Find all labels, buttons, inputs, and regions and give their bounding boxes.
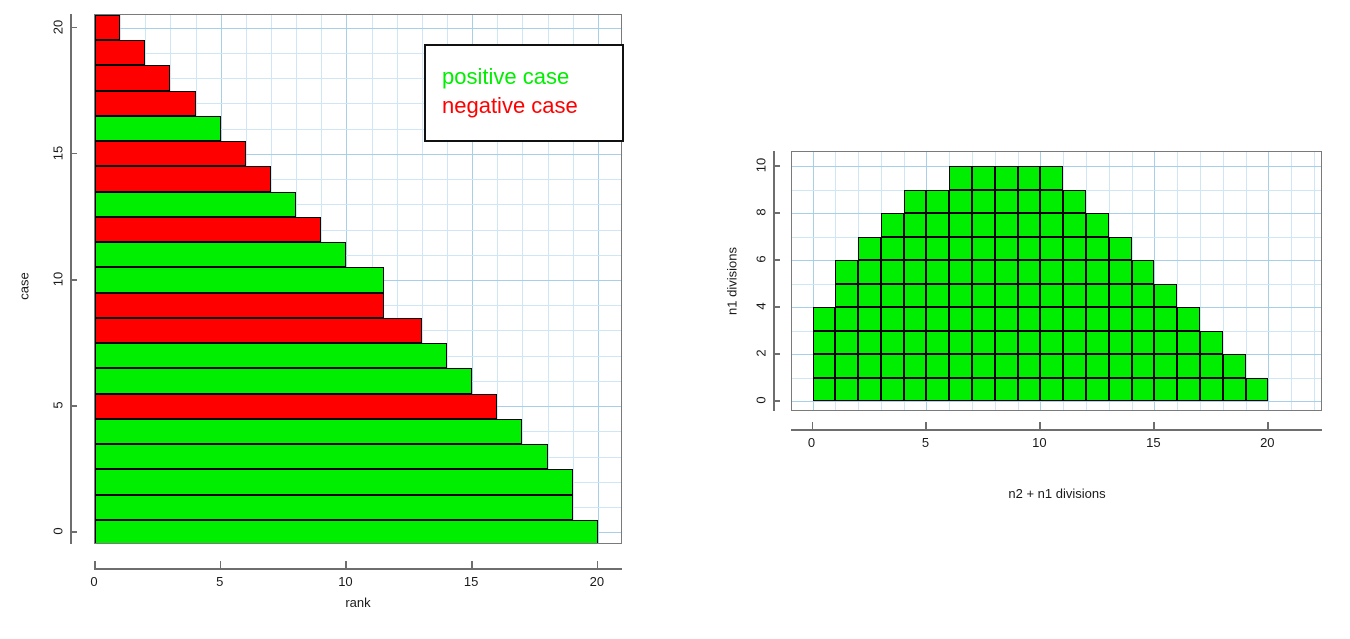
y-tick-label: 0 [754,397,769,404]
grid-line-horizontal [95,28,621,29]
bar-case-2 [95,469,573,494]
staircase-row-0 [813,378,1269,402]
staircase-row-8 [904,190,1086,214]
staircase-row-3 [813,307,1200,331]
staircase-row-5 [835,260,1154,284]
staircase-row-4 [835,284,1177,308]
y-tick [70,279,77,281]
bar-case-5 [95,394,497,419]
y-tick-label: 10 [754,158,769,172]
y-tick [773,212,780,214]
x-tick [471,561,473,568]
x-tick [597,561,599,568]
y-tick [773,353,780,355]
y-tick [773,400,780,402]
legend-box: positive case negative case [424,44,624,142]
bar-case-8 [95,318,422,343]
x-tick [345,561,347,568]
y-tick-label: 15 [51,146,66,160]
y-tick [70,405,77,407]
bar-case-14 [95,166,271,191]
bar-case-16 [95,116,221,141]
x-tick-label: 15 [1146,435,1160,450]
bar-case-6 [95,368,472,393]
bar-case-11 [95,242,346,267]
y-tick [70,153,77,155]
bar-case-10 [95,267,384,292]
x-tick [220,561,222,568]
y-tick [70,27,77,29]
legend-positive: positive case [442,63,606,92]
bar-case-13 [95,192,296,217]
bar-case-9 [95,293,384,318]
bar-case-3 [95,444,548,469]
y-tick-label: 5 [51,402,66,409]
x-tick-label: 0 [90,574,97,589]
legend-negative: negative case [442,92,606,121]
x-tick-label: 20 [590,574,604,589]
right-plot-area [791,151,1322,411]
staircase-row-2 [813,331,1223,355]
left-x-axis-title: rank [345,595,370,610]
y-tick-label: 0 [51,528,66,535]
bar-case-4 [95,419,522,444]
staircase-row-1 [813,354,1246,378]
left-y-axis-title: case [17,272,32,299]
grid-line-vertical [1268,152,1269,410]
staircase-row-7 [881,213,1109,237]
y-tick [773,165,780,167]
right-y-axis-line [773,151,775,411]
staircase-row-9 [949,166,1063,190]
y-tick-label: 20 [51,19,66,33]
bar-case-0 [95,520,598,544]
x-tick-label: 0 [808,435,815,450]
y-tick [773,259,780,261]
y-tick-label: 10 [51,272,66,286]
right-x-axis-title: n2 + n1 divisions [1008,486,1105,501]
left-chart-panel: positive case negative case rank case 05… [0,0,660,639]
y-tick-label: 2 [754,350,769,357]
y-tick [773,306,780,308]
x-tick [812,422,814,429]
x-tick-label: 15 [464,574,478,589]
left-x-axis-line [94,568,622,570]
x-tick-label: 10 [338,574,352,589]
grid-line-vertical [1246,152,1247,410]
x-tick-label: 10 [1032,435,1046,450]
x-tick [925,422,927,429]
x-tick [1153,422,1155,429]
x-tick [1267,422,1269,429]
x-tick-label: 20 [1260,435,1274,450]
y-tick-label: 6 [754,256,769,263]
y-tick-label: 8 [754,209,769,216]
right-x-axis-line [791,429,1322,431]
staircase-row-6 [858,237,1131,261]
right-chart-panel: n2 + n1 divisions n1 divisions 051015200… [660,0,1350,639]
grid-line-vertical [1314,152,1315,410]
y-tick [70,531,77,533]
bar-case-18 [95,65,170,90]
bar-case-19 [95,40,145,65]
grid-line-vertical [1291,152,1292,410]
x-tick-label: 5 [922,435,929,450]
x-tick-label: 5 [216,574,223,589]
bar-case-20 [95,15,120,40]
y-tick-label: 4 [754,303,769,310]
x-tick [94,561,96,568]
x-tick [1039,422,1041,429]
grid-line-horizontal [792,401,1321,402]
right-y-axis-title: n1 divisions [725,247,740,315]
bar-case-17 [95,91,196,116]
bar-case-7 [95,343,447,368]
bar-case-12 [95,217,321,242]
bar-case-15 [95,141,246,166]
bar-case-1 [95,495,573,520]
